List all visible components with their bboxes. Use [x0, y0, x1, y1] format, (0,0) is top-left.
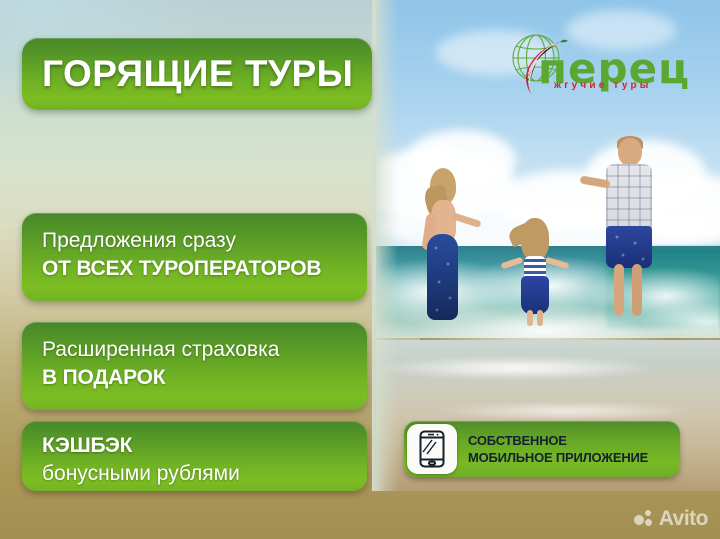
logo-tagline: жгучие туры: [554, 80, 652, 91]
feature-line-1: КЭШБЭК: [42, 432, 367, 460]
foam-line: [376, 352, 720, 386]
photo-subject-woman: [420, 168, 466, 318]
feature-line-2: В ПОДАРОК: [42, 364, 367, 392]
feature-line-2: бонусными рублями: [42, 460, 367, 488]
avito-wordmark: Avito: [659, 507, 708, 531]
mobile-app-badge[interactable]: СОБСТВЕННОЕ МОБИЛЬНОЕ ПРИЛОЖЕНИЕ: [404, 421, 680, 477]
headline-panel: ГОРЯЩИЕ ТУРЫ: [22, 38, 372, 110]
smartphone-icon: [407, 424, 457, 474]
avito-watermark: Avito: [634, 507, 708, 531]
page-title: ГОРЯЩИЕ ТУРЫ: [22, 53, 353, 95]
feature-panel-cashback: КЭШБЭК бонусными рублями: [22, 421, 367, 491]
feature-line-1: Предложения сразу: [42, 227, 367, 255]
app-badge-line-1: СОБСТВЕННОЕ: [468, 432, 648, 449]
app-badge-text: СОБСТВЕННОЕ МОБИЛЬНОЕ ПРИЛОЖЕНИЕ: [468, 432, 648, 466]
photo-subject-man: [598, 138, 656, 320]
bottom-sand-strip: [0, 491, 720, 539]
advertisement-banner: ГОРЯЩИЕ ТУРЫ Предложения сразу ОТ ВСЕХ Т…: [0, 0, 720, 539]
brand-logo[interactable]: ПЕРЕЦ жгучие туры: [498, 30, 698, 102]
app-badge-line-2: МОБИЛЬНОЕ ПРИЛОЖЕНИЕ: [468, 449, 648, 466]
photo-blend-edge: [372, 0, 398, 494]
feature-panel-insurance: Расширенная страховка В ПОДАРОК: [22, 322, 367, 410]
feature-line-1: Расширенная страховка: [42, 336, 367, 364]
feature-panel-operators: Предложения сразу ОТ ВСЕХ ТУРОПЕРАТОРОВ: [22, 213, 367, 301]
photo-subject-girl: [513, 218, 557, 320]
avito-dots-icon: [634, 509, 654, 529]
feature-line-2: ОТ ВСЕХ ТУРОПЕРАТОРОВ: [42, 255, 367, 283]
